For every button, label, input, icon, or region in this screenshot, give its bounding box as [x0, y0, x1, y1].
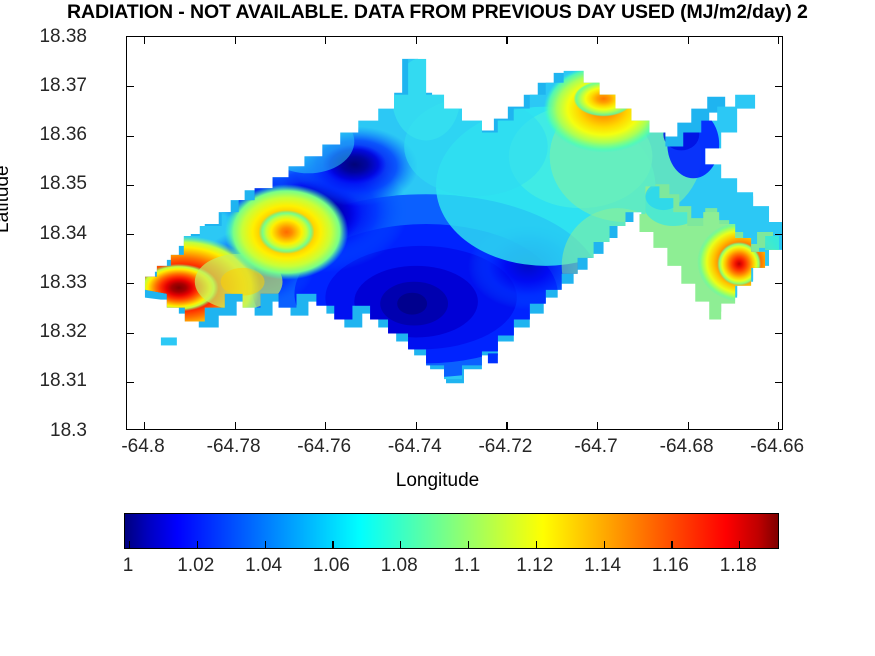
y-tick-label-1: 18.37: [39, 76, 87, 95]
y-tick-right-18-36: [775, 136, 782, 137]
x-tick-64-74: [416, 422, 417, 429]
x-tick-top-64-72: [506, 37, 507, 44]
x-tick-top-64-8: [144, 37, 145, 44]
colorbar-label-7: 1.14: [584, 556, 621, 575]
y-tick-right-18-31: [775, 382, 782, 383]
x-tick-64-68: [688, 422, 689, 429]
x-tick-label-7: -64.66: [750, 437, 804, 456]
colorbar-tick-1-16: [671, 541, 672, 548]
x-tick-label-4: -64.72: [478, 437, 532, 456]
colorbar-tick-1-04: [265, 541, 266, 548]
page-title: RADIATION - NOT AVAILABLE. DATA FROM PRE…: [67, 0, 808, 24]
colorbar-label-0: 1: [123, 556, 134, 575]
y-tick-label-0: 18.38: [39, 27, 87, 46]
map-axes: [126, 36, 783, 430]
y-tick-18-32: [127, 333, 134, 334]
x-tick-top-64-78: [235, 37, 236, 44]
colorbar-label-9: 1.18: [720, 556, 757, 575]
y-tick-18-31: [127, 382, 134, 383]
x-tick-label-5: -64.7: [574, 437, 617, 456]
y-tick-label-7: 18.31: [39, 371, 87, 390]
islet-speck-2: [488, 353, 498, 363]
colorbar-label-2: 1.04: [245, 556, 282, 575]
colorbar-label-5: 1.1: [454, 556, 480, 575]
colorbar-tick-1-18: [739, 541, 740, 548]
x-tick-64-8: [144, 422, 145, 429]
x-tick-label-2: -64.76: [297, 437, 351, 456]
colorbar-tick-1-14: [604, 541, 605, 548]
y-tick-right-18-35: [775, 185, 782, 186]
y-tick-label-6: 18.32: [39, 322, 87, 341]
y-axis-label: Latitude: [0, 165, 14, 233]
x-tick-top-64-76: [325, 37, 326, 44]
x-tick-top-64-68: [688, 37, 689, 44]
y-tick-right-18-33: [775, 283, 782, 284]
colorbar-tick-1-1: [468, 541, 469, 548]
y-tick-right-18-37: [775, 86, 782, 87]
y-tick-18-34: [127, 234, 134, 235]
colorbar-tick-1: [129, 541, 130, 548]
colorbar[interactable]: [124, 513, 779, 549]
x-tick-top-64-74: [416, 37, 417, 44]
x-tick-64-78: [235, 422, 236, 429]
colorbar-tick-1-08: [400, 541, 401, 548]
x-tick-top-64-7: [597, 37, 598, 44]
x-tick-64-66: [778, 422, 779, 429]
x-tick-label-0: -64.8: [121, 437, 164, 456]
y-tick-18-33: [127, 283, 134, 284]
x-axis-label: Longitude: [0, 470, 875, 492]
y-tick-label-4: 18.34: [39, 224, 87, 243]
colorbar-gradient[interactable]: [124, 513, 779, 549]
y-tick-label-5: 18.33: [39, 273, 87, 292]
colorbar-label-1: 1.02: [177, 556, 214, 575]
y-tick-right-18-32: [775, 333, 782, 334]
y-tick-18-35: [127, 185, 134, 186]
colorbar-tick-1-12: [536, 541, 537, 548]
colorbar-tick-1-06: [332, 541, 333, 548]
x-tick-64-76: [325, 422, 326, 429]
figure-canvas: RADIATION - NOT AVAILABLE. DATA FROM PRE…: [0, 0, 875, 656]
y-tick-18-37: [127, 86, 134, 87]
x-tick-label-6: -64.68: [660, 437, 714, 456]
x-tick-label-1: -64.78: [207, 437, 261, 456]
x-tick-top-64-66: [778, 37, 779, 44]
x-tick-64-72: [506, 422, 507, 429]
colorbar-label-8: 1.16: [652, 556, 689, 575]
colorbar-tick-1-02: [197, 541, 198, 548]
colorbar-label-6: 1.12: [516, 556, 553, 575]
colorbar-label-4: 1.08: [381, 556, 418, 575]
title-clip: RADIATION - NOT AVAILABLE. DATA FROM PRE…: [0, 0, 875, 26]
radiation-contour-map: [127, 37, 782, 429]
y-tick-label-3: 18.35: [39, 174, 87, 193]
x-tick-label-3: -64.74: [388, 437, 442, 456]
islet-speck-1: [161, 337, 177, 345]
y-tick-18-36: [127, 136, 134, 137]
y-tick-label-2: 18.36: [39, 125, 87, 144]
y-tick-right-18-34: [775, 234, 782, 235]
x-tick-64-7: [597, 422, 598, 429]
y-tick-label-8: 18.3: [50, 421, 87, 440]
colorbar-label-3: 1.06: [313, 556, 350, 575]
